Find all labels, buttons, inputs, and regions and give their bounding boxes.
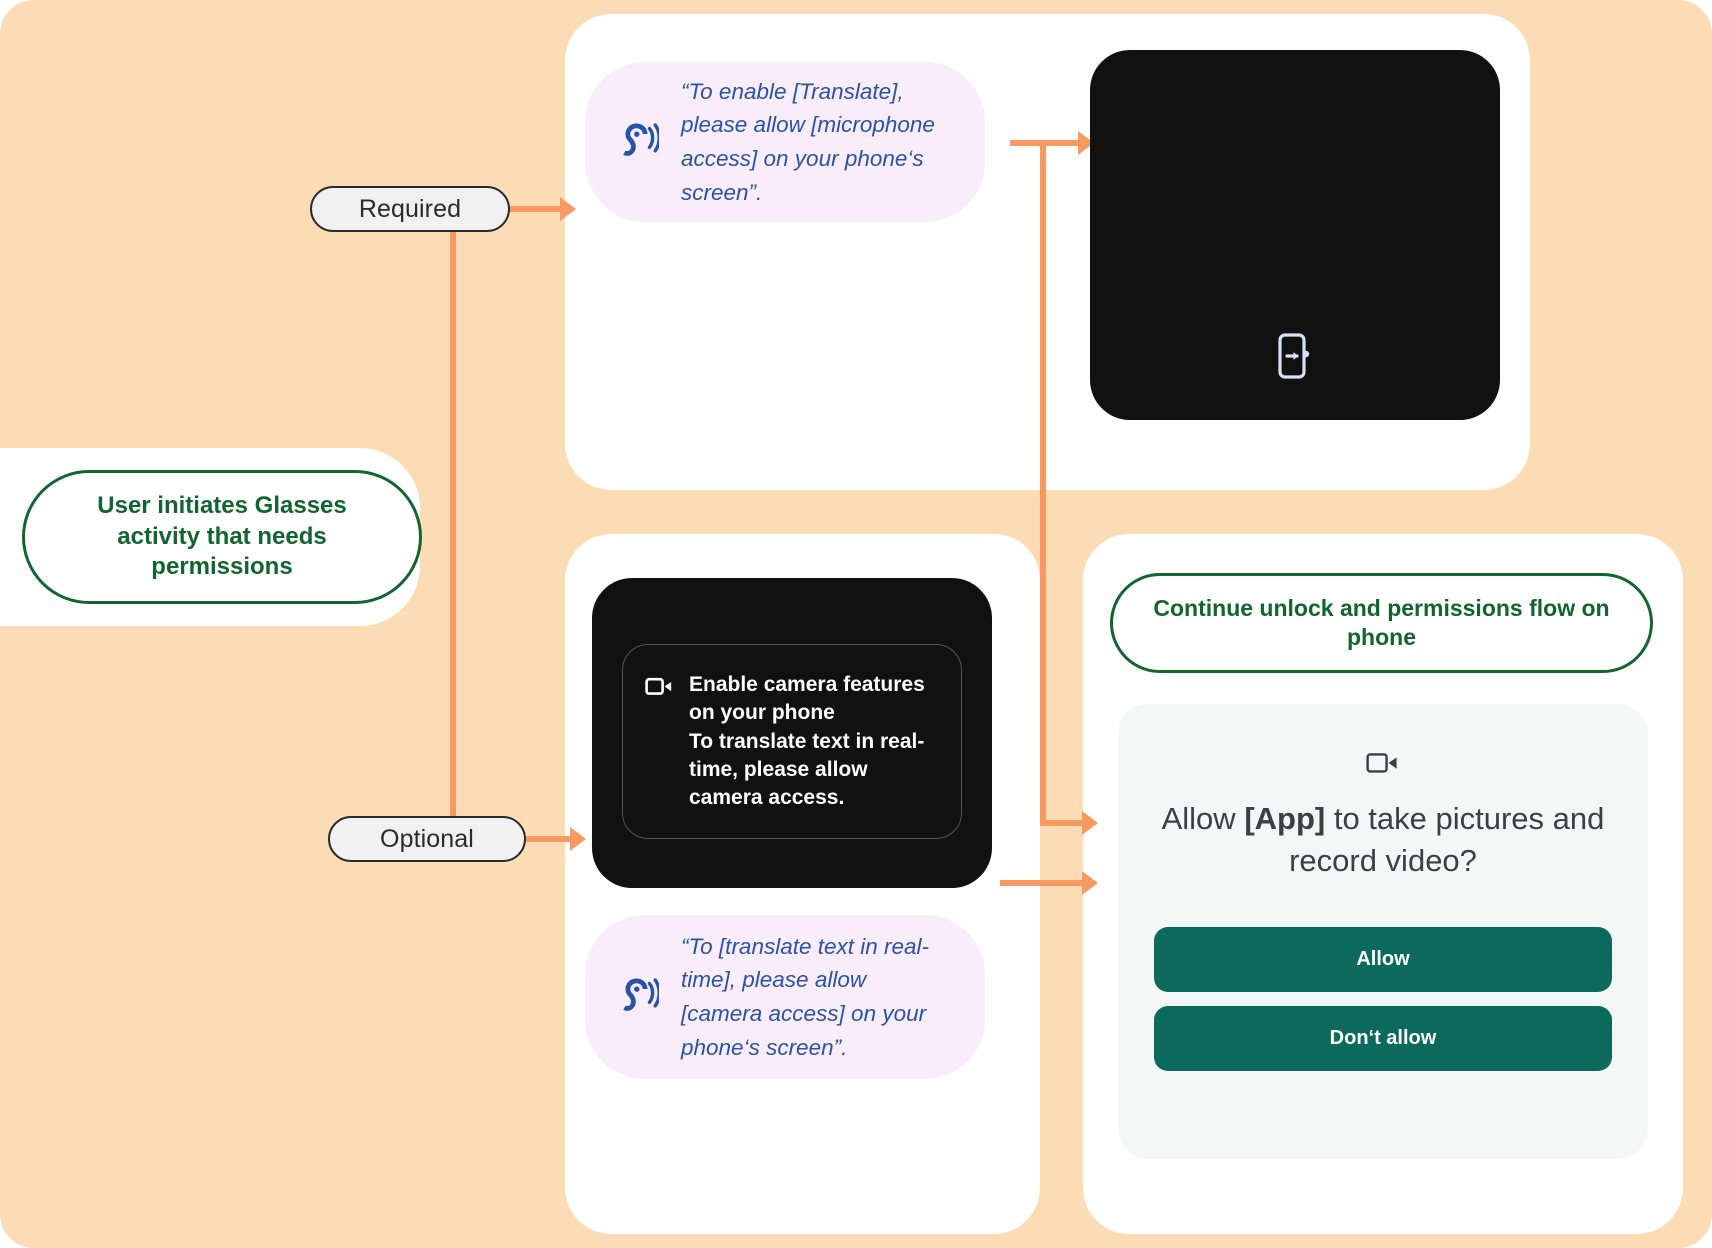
speech-bubble-required: “To enable [Translate], please allow [mi…: [585, 62, 985, 222]
branch-optional-text: Optional: [380, 825, 474, 854]
permission-app-name: [App]: [1244, 801, 1325, 836]
permission-question-suffix: to take pictures and record video?: [1289, 801, 1604, 878]
arrowhead-glasses-to-dialog: [1082, 871, 1098, 895]
android-permission-dialog: Allow [App] to take pictures and record …: [1118, 704, 1648, 1159]
arrowhead-required-to-bubble: [560, 197, 576, 221]
permission-question: Allow [App] to take pictures and record …: [1154, 798, 1612, 881]
arrowhead-unlock-to-dialog: [1082, 811, 1098, 835]
ear-audio-icon: [619, 975, 659, 1019]
node-continue-on-phone[interactable]: Continue unlock and permissions flow on …: [1110, 573, 1653, 673]
node-start-label: User initiates Glasses activity that nee…: [55, 491, 389, 583]
phone-unlock-icon: [1277, 332, 1313, 380]
video-camera-icon: [645, 675, 673, 697]
diagram-canvas: User initiates Glasses activity that nee…: [0, 0, 1712, 1248]
allow-button[interactable]: Allow: [1154, 927, 1612, 992]
speech-bubble-optional: “To [translate text in real-time], pleas…: [585, 915, 985, 1079]
speech-bubble-optional-text: “To [translate text in real-time], pleas…: [681, 930, 951, 1065]
connector-unlock-to-dialog-h: [1040, 820, 1084, 826]
connector-branch-trunk: [450, 232, 456, 838]
arrowhead-optional-to-glasses: [570, 827, 586, 851]
permission-question-prefix: Allow: [1162, 801, 1245, 836]
connector-required-to-bubble: [510, 206, 562, 212]
connector-optional-to-glasses: [526, 836, 572, 842]
node-user-initiates-activity[interactable]: User initiates Glasses activity that nee…: [22, 470, 422, 604]
branch-label-optional[interactable]: Optional: [328, 816, 526, 862]
glasses-screen-camera-notification: Enable camera features on your phone To …: [592, 578, 992, 888]
branch-label-required[interactable]: Required: [310, 186, 510, 232]
notification-subtitle: To translate text in real-time, please a…: [689, 728, 937, 811]
dont-allow-button[interactable]: Don‘t allow: [1154, 1006, 1612, 1071]
speech-bubble-required-text: “To enable [Translate], please allow [mi…: [681, 75, 951, 210]
node-continue-label: Continue unlock and permissions flow on …: [1139, 594, 1624, 653]
connector-unlock-to-dialog-v: [1040, 140, 1046, 826]
glasses-screen-unlock: [1090, 50, 1500, 420]
notification-title: Enable camera features on your phone: [689, 671, 937, 726]
notification-card: Enable camera features on your phone To …: [622, 644, 962, 839]
connector-glasses-to-dialog: [1000, 880, 1084, 886]
video-camera-icon: [1366, 750, 1400, 776]
branch-required-text: Required: [359, 195, 461, 224]
ear-audio-icon: [619, 120, 659, 164]
